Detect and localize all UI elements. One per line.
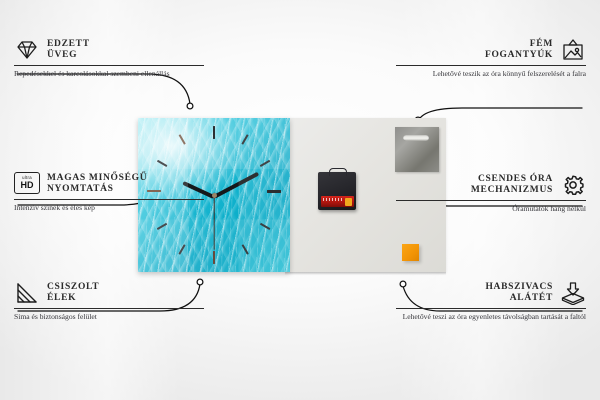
feature-description: Lehetővé teszi az óra egyenletes távolsá…: [396, 312, 586, 322]
polished-edges-icon: [14, 281, 40, 305]
battery: [321, 196, 354, 207]
feature-title: CSENDES ÓRA MECHANIZMUS: [471, 174, 553, 197]
tick-4: [260, 223, 271, 230]
tick-6: [213, 251, 216, 264]
tick-10: [157, 160, 168, 167]
battery-label: [323, 198, 343, 201]
feature-description: Intenzív színek és éles kép: [14, 203, 204, 213]
picture-hanging-icon: [560, 38, 586, 62]
feature-description: Óramutatók hang nélkül: [396, 204, 586, 214]
feature-title: EDZETT ÜVEG: [47, 39, 90, 62]
feature-polished-edges: CSISZOLT ÉLEK Sima és biztonságos felüle…: [14, 281, 204, 322]
feature-metal-handles: FÉM FOGANTYÚK Lehetővé teszik az óra kön…: [396, 38, 586, 79]
foam-pad-arrow-icon: [560, 281, 586, 305]
second-hand: [213, 196, 214, 250]
tick-2: [260, 160, 271, 167]
feature-description: Lehetővé teszik az óra könnyű felszerelé…: [396, 69, 586, 79]
divider: [396, 200, 586, 201]
divider: [14, 65, 204, 66]
endpoint-tempered-glass: [187, 103, 193, 109]
foam-pad: [402, 244, 419, 261]
battery-plus-terminal: [345, 198, 352, 206]
feature-description: Sima és biztonságos felület: [14, 312, 204, 322]
ultra-hd-icon: ultra HD: [14, 172, 40, 196]
clock-center-pin: [212, 193, 217, 198]
feature-title: CSISZOLT ÉLEK: [47, 282, 99, 305]
feature-title: HABSZIVACS ALÁTÉT: [485, 282, 553, 305]
divider: [14, 199, 204, 200]
feature-high-quality-print: ultra HD MAGAS MINŐSÉGŰ NYOMTATÁS Intenz…: [14, 172, 204, 213]
feature-foam-pad: HABSZIVACS ALÁTÉT Lehetővé teszi az óra …: [396, 281, 586, 322]
diamond-icon: [14, 38, 40, 62]
feature-title: FÉM FOGANTYÚK: [485, 39, 553, 62]
feature-silent-mechanism: CSENDES ÓRA MECHANIZMUS Óramutatók hang …: [396, 173, 586, 214]
tick-8: [157, 223, 168, 230]
tick-7: [178, 244, 185, 255]
feature-description: Repedésekkel és karcolásokkal szembeni e…: [14, 69, 204, 79]
divider: [396, 308, 586, 309]
tick-11: [178, 134, 185, 145]
minute-hand: [213, 172, 259, 199]
divider: [396, 65, 586, 66]
metal-hanger: [395, 127, 439, 172]
gear-icon: [560, 173, 586, 197]
divider: [14, 308, 204, 309]
tick-3: [267, 190, 281, 193]
infographic-canvas: EDZETT ÜVEG Repedésekkel és karcolásokka…: [0, 0, 600, 400]
tick-5: [241, 244, 248, 255]
feature-tempered-glass: EDZETT ÜVEG Repedésekkel és karcolásokka…: [14, 38, 204, 79]
clock-mechanism: [318, 172, 356, 210]
feature-title: MAGAS MINŐSÉGŰ NYOMTATÁS: [47, 173, 147, 196]
mechanism-handle: [329, 168, 347, 176]
hanger-slot: [403, 135, 429, 141]
tick-12: [213, 126, 216, 139]
tick-1: [241, 134, 248, 145]
